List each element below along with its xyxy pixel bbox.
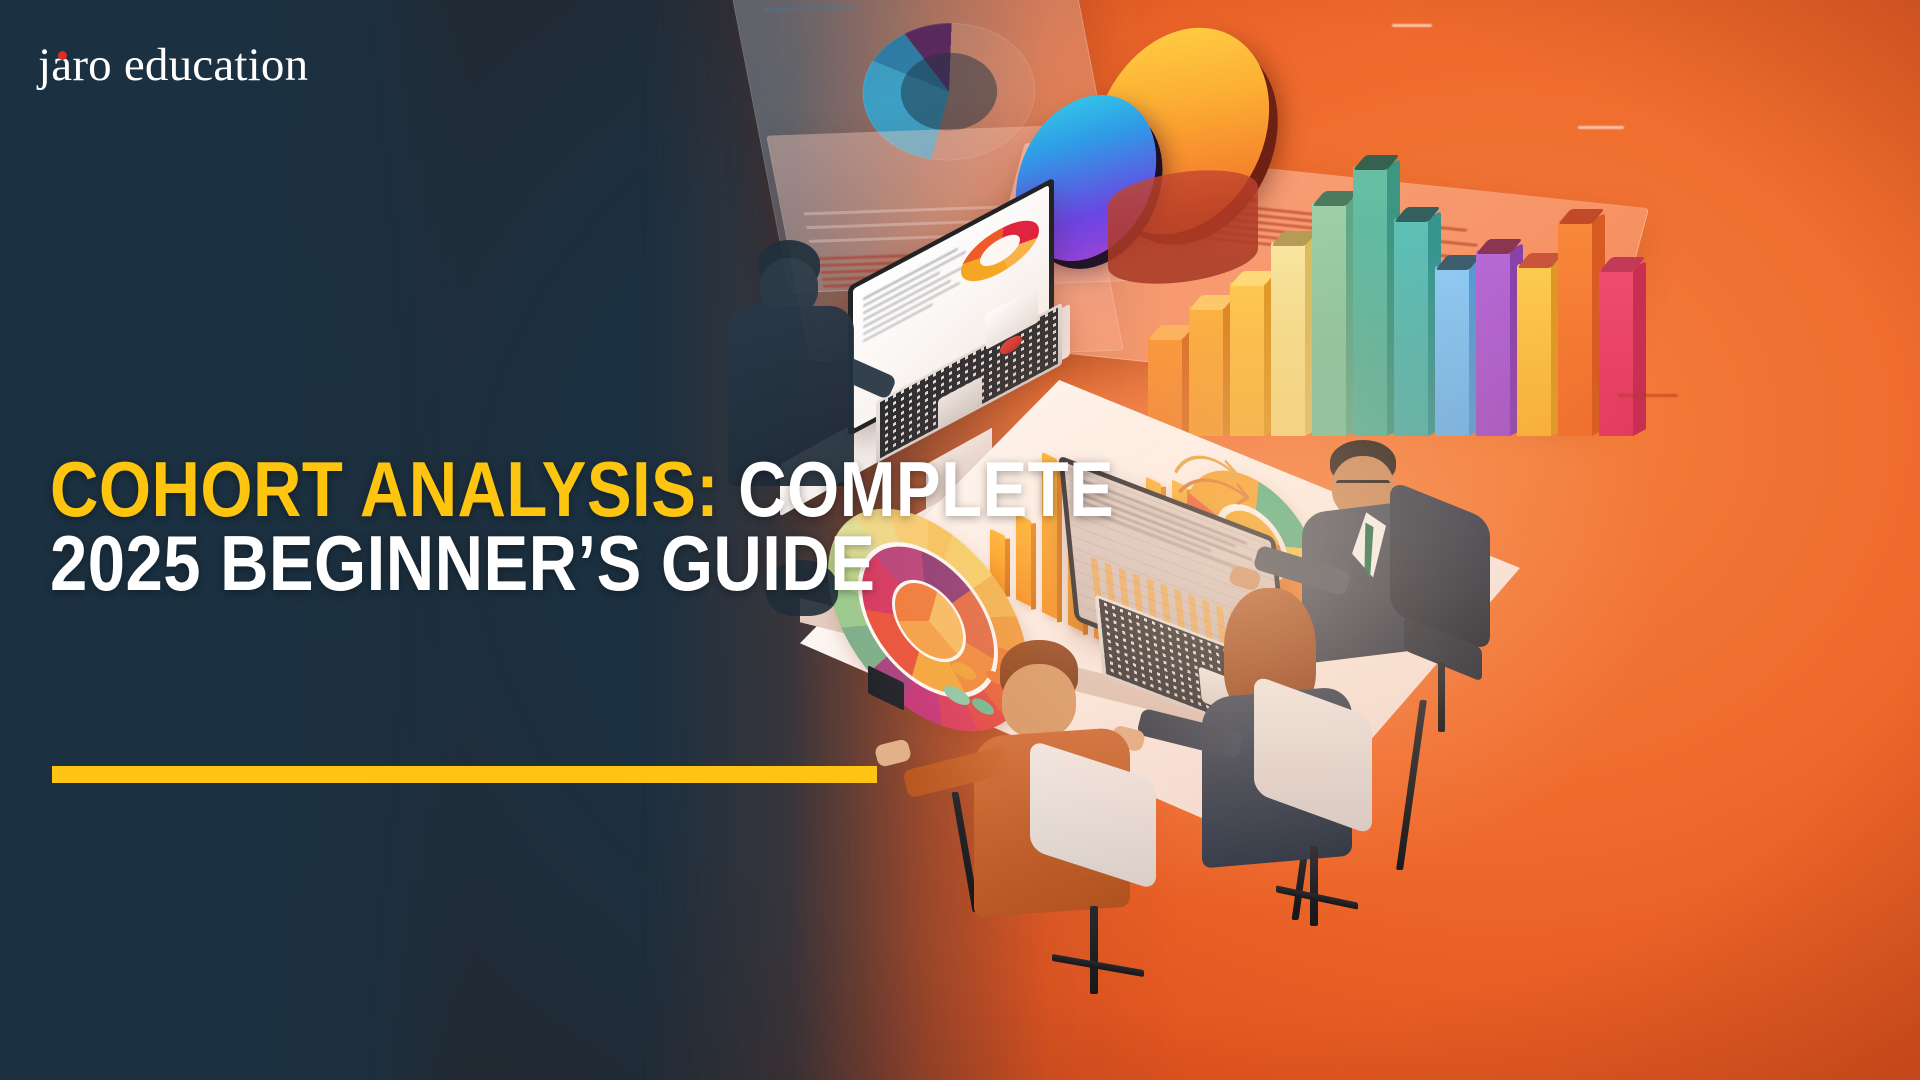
headline-underline-bar [52, 766, 877, 783]
headline-line-2: 2025 BEGINNER’S GUIDE [50, 526, 858, 600]
logo-dot-icon [58, 51, 67, 60]
headline-line-1: COHORT ANALYSIS: COMPLETE [50, 452, 858, 526]
headline-block: COHORT ANALYSIS: COMPLETE 2025 BEGINNER’… [50, 452, 990, 600]
brand-logo[interactable]: jaro education [38, 42, 308, 89]
logo-text: jaro education [38, 42, 308, 89]
banner-canvas: jaro education COHORT ANALYSIS: COMPLETE… [0, 0, 1920, 1080]
